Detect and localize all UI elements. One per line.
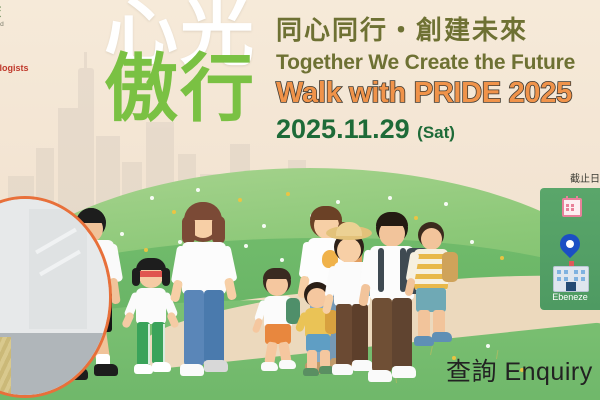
event-title: Walk with PRIDE 2025 bbox=[276, 77, 600, 110]
deadline-label: 截止日 bbox=[570, 170, 600, 185]
event-date-value: 2025.11.29 bbox=[276, 114, 410, 144]
map-pin-icon bbox=[560, 234, 580, 260]
headline-block: 同心同行・創建未來 Together We Create the Future … bbox=[276, 10, 600, 145]
hospital-building-icon bbox=[553, 266, 589, 292]
enquiry-label: 查詢 Enquiry bbox=[446, 352, 593, 388]
logo-college-line2: thalmologists bbox=[0, 63, 120, 73]
tagline-chinese: 同心同行・創建未來 bbox=[276, 10, 600, 47]
logo-school-en: ly Impaired bbox=[0, 21, 120, 29]
logo-school-cn: 學校 bbox=[0, 4, 120, 20]
organizer-logos: 學校 ly Impaired ties thalmologists ty bbox=[0, 4, 120, 86]
tagline-english: Together We Create the Future bbox=[276, 51, 600, 75]
calendar-icon bbox=[562, 198, 582, 217]
inset-photo bbox=[0, 196, 112, 398]
headline-chinese: 心光 傲行 bbox=[104, 2, 256, 121]
headline-chinese-row2: 傲行 bbox=[104, 58, 256, 122]
logo-college-line3: ty bbox=[0, 76, 120, 86]
event-poster: 學校 ly Impaired ties thalmologists ty 心光 … bbox=[0, 0, 600, 400]
event-day-value: (Sat) bbox=[417, 123, 455, 142]
event-date: 2025.11.29 (Sat) bbox=[276, 114, 600, 145]
logo-college-line1: ties bbox=[0, 49, 120, 59]
logo-school: 學校 ly Impaired bbox=[0, 4, 120, 29]
venue-label: Ebeneze bbox=[540, 292, 600, 302]
logo-college: ties thalmologists ty bbox=[0, 49, 120, 86]
venue-info-card[interactable]: Ebeneze bbox=[540, 188, 600, 310]
